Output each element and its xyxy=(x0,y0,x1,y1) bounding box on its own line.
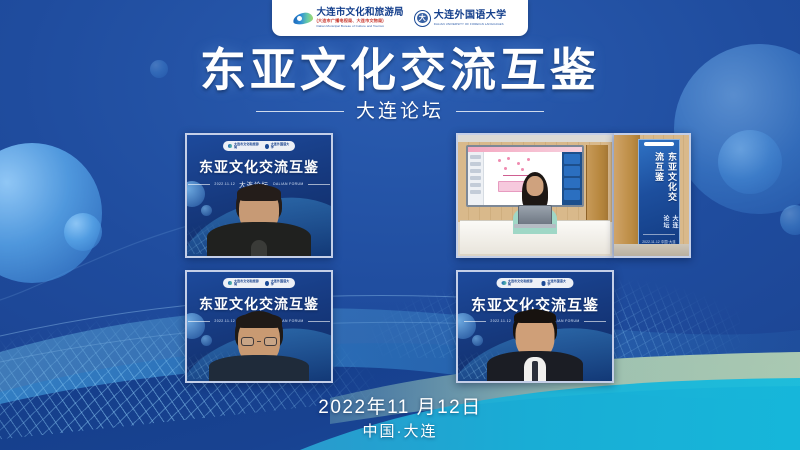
org-logo-university: 大 大连外国语大学 DALIAN UNIVERSITY OF FOREIGN L… xyxy=(414,10,507,27)
tile-org-right: 大连外国语大学 xyxy=(271,280,290,287)
participant-avatar xyxy=(187,184,331,256)
video-tile-rollup-banner[interactable]: 东亚文化交流互鉴 大连论坛 2022.11.12 中国·大连 xyxy=(614,133,691,258)
event-date: 2022年11 月12日 xyxy=(0,398,800,417)
org-left-name-cn: 大连市文化和旅游局 xyxy=(316,8,403,18)
university-seal-icon xyxy=(265,144,269,149)
org-logo-culture-tourism: 大连市文化和旅游局 (大连市广播电视局、大连市文物局) Dalian Munic… xyxy=(293,8,403,27)
tile-title: 东亚文化交流互鉴 xyxy=(187,157,331,177)
tile-logo-bar: 大连市文化和旅游局 大连外国语大学 xyxy=(497,278,574,288)
org-right-name-cn: 大连外国语大学 xyxy=(434,11,507,21)
video-tile-participant-top-left[interactable]: 大连市文化和旅游局 大连外国语大学 东亚文化交流互鉴 2022.11.12 大连… xyxy=(185,133,333,258)
org-left-name-en: Dalian Municipal Bureau of Culture and T… xyxy=(316,25,403,28)
university-seal-icon xyxy=(265,281,269,286)
poster-canvas: 大连市文化和旅游局 (大连市广播电视局、大连市文物局) Dalian Munic… xyxy=(0,0,800,450)
rollup-banner-scene: 东亚文化交流互鉴 大连论坛 2022.11.12 中国·大连 xyxy=(614,135,689,256)
swoosh-logo-icon xyxy=(502,281,507,285)
rollup-banner: 东亚文化交流互鉴 大连论坛 2022.11.12 中国·大连 xyxy=(638,139,680,250)
participant-avatar xyxy=(458,309,612,381)
org-left-name-cn-sub: (大连市广播电视局、大连市文物局) xyxy=(316,19,403,23)
tile-org-right: 大连外国语大学 xyxy=(547,280,568,287)
tile-org-left: 大连市文化和旅游局 xyxy=(234,143,259,150)
video-tile-participant-bottom-left[interactable]: 大连市文化和旅游局 大连外国语大学 东亚文化交流互鉴 2022.11.12 大连… xyxy=(185,270,333,383)
tile-logo-bar: 大连市文化和旅游局 大连外国语大学 xyxy=(223,278,295,288)
swoosh-logo-icon xyxy=(293,12,313,25)
video-tile-participant-bottom-right[interactable]: 大连市文化和旅游局 大连外国语大学 东亚文化交流互鉴 2022.11.12 大连… xyxy=(456,270,614,383)
banner-subtitle-vertical: 大连论坛 xyxy=(661,215,679,235)
meeting-room-scene xyxy=(458,135,612,256)
tile-org-left: 大连市文化和旅游局 xyxy=(508,280,535,287)
page-subtitle: 大连论坛 xyxy=(356,102,444,121)
subtitle-rule-right xyxy=(456,111,544,112)
room-door xyxy=(614,135,640,256)
tile-org-right: 大连外国语大学 xyxy=(271,143,290,150)
subtitle-rule-left xyxy=(256,111,344,112)
page-subtitle-row: 大连论坛 xyxy=(0,102,800,121)
event-location: 中国·大连 xyxy=(0,424,800,439)
university-seal-icon xyxy=(541,281,546,286)
org-right-name-en: DALIAN UNIVERSITY OF FOREIGN LANGUAGES xyxy=(434,23,507,26)
tile-logo-bar: 大连市文化和旅游局 大连外国语大学 xyxy=(223,141,295,151)
page-title: 东亚文化交流互鉴 xyxy=(0,47,800,93)
swoosh-logo-icon xyxy=(228,144,232,148)
glasses-icon xyxy=(241,337,277,346)
banner-title-vertical: 东亚文化交流互鉴 xyxy=(653,152,679,208)
seal-glyph: 大 xyxy=(415,11,430,26)
participant-avatar xyxy=(187,311,331,381)
university-seal-icon: 大 xyxy=(414,10,431,27)
laptop xyxy=(518,205,552,225)
video-tile-speaker-center[interactable] xyxy=(456,133,614,258)
swoosh-logo-icon xyxy=(228,281,232,285)
header-logo-bar: 大连市文化和旅游局 (大连市广播电视局、大连市文物局) Dalian Munic… xyxy=(272,0,528,36)
tile-org-left: 大连市文化和旅游局 xyxy=(234,280,259,287)
